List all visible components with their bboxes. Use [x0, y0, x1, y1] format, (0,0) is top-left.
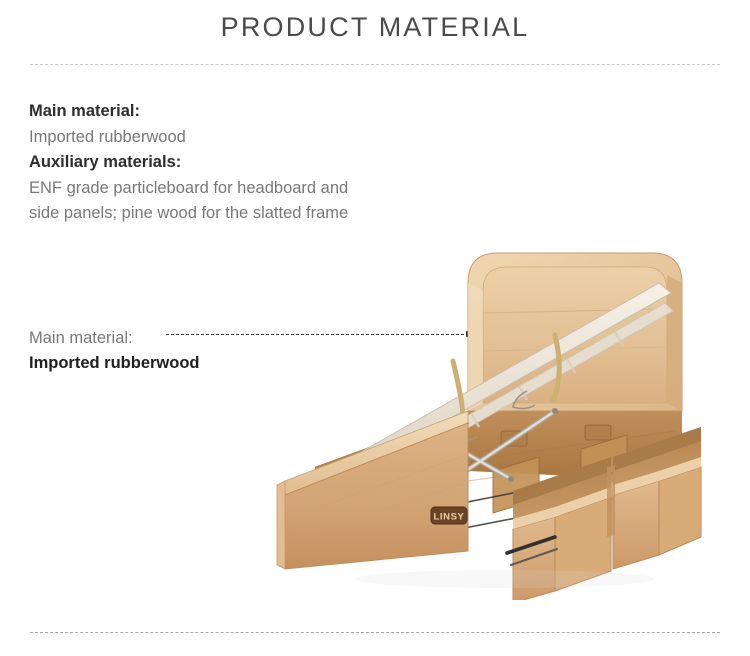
- divider-bottom: [30, 632, 720, 633]
- spec-line-auxiliary-materials-value-1: ENF grade particleboard for headboard an…: [29, 176, 459, 202]
- spec-line-main-material-label: Main material:: [29, 99, 459, 125]
- product-material-page: PRODUCT MATERIAL Main material: Imported…: [0, 0, 750, 656]
- divider-top: [30, 64, 720, 65]
- callout-label: Main material:: [29, 326, 279, 351]
- callout-value: Imported rubberwood: [29, 351, 279, 376]
- spec-line-main-material-value: Imported rubberwood: [29, 125, 459, 151]
- svg-text:LINSY: LINSY: [434, 512, 465, 523]
- spec-line-auxiliary-materials-label: Auxiliary materials:: [29, 150, 459, 176]
- product-image: LINSY: [255, 235, 725, 600]
- page-title: PRODUCT MATERIAL: [0, 12, 750, 43]
- spec-line-auxiliary-materials-value-2: side panels; pine wood for the slatted f…: [29, 201, 459, 227]
- front-side-rail: LINSY: [277, 411, 468, 569]
- brand-badge: LINSY: [431, 507, 467, 524]
- spec-block: Main material: Imported rubberwood Auxil…: [29, 99, 459, 227]
